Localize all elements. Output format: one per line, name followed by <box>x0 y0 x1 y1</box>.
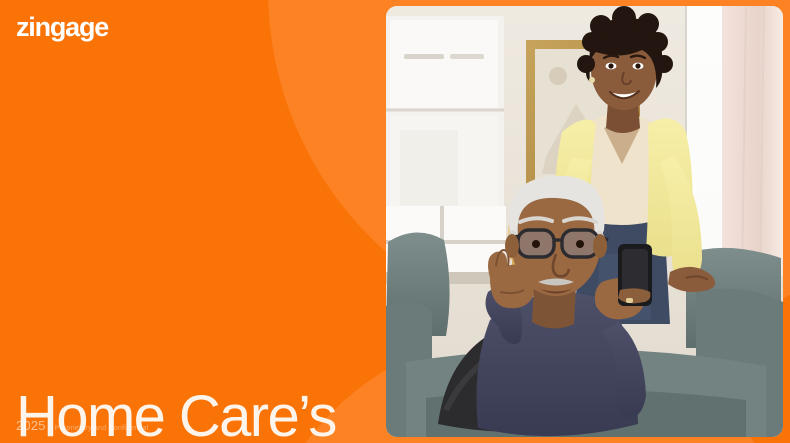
page-title-line-1: Home Care’s <box>16 386 336 443</box>
footer-confidentiality-note: Proprietary and Confidential <box>55 425 149 432</box>
hero-photo <box>386 6 783 437</box>
footer-year: 2025 <box>16 418 46 433</box>
zingage-logo-text: zingage <box>16 12 114 42</box>
footer: 2025 Proprietary and Confidential <box>16 418 149 433</box>
title-slide: zingage Home Care’s Iron Dome 2025 Propr… <box>0 0 790 443</box>
zingage-logo[interactable]: zingage <box>16 12 114 42</box>
page-title: Home Care’s Iron Dome <box>16 262 336 443</box>
